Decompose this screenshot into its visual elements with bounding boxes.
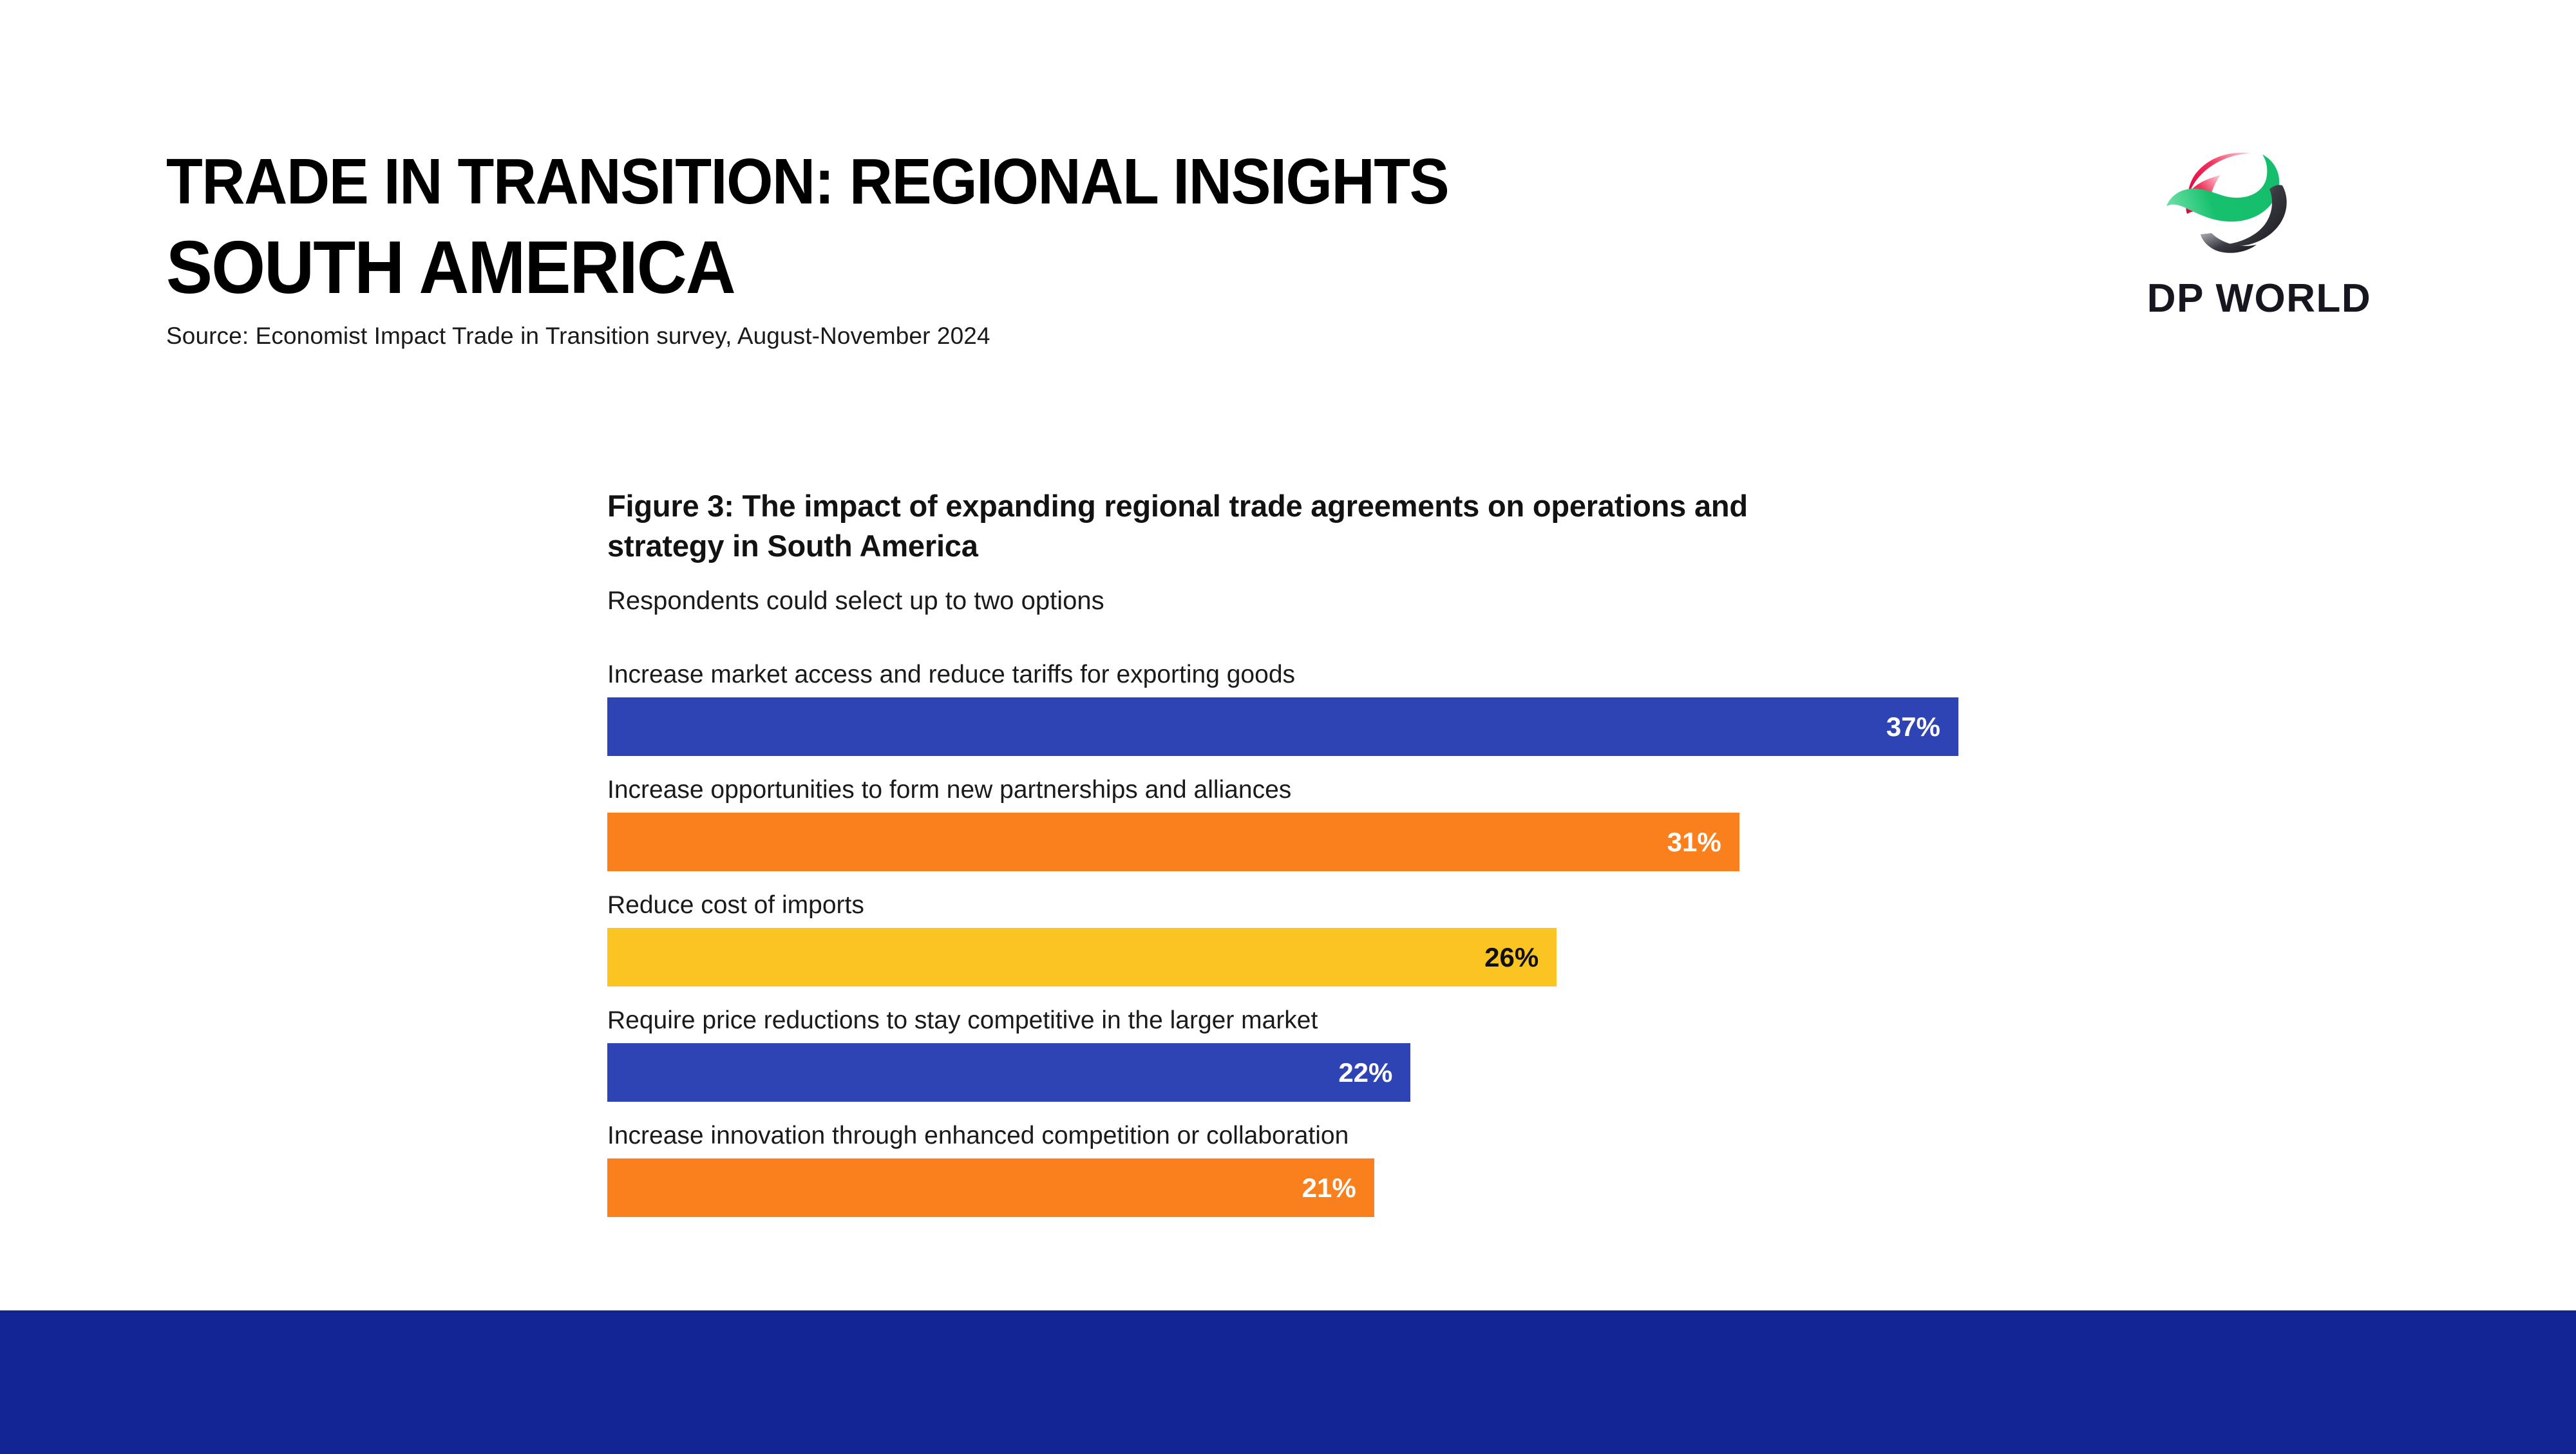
bar-track: 31% <box>607 813 2153 871</box>
chart-row: Increase market access and reduce tariff… <box>607 641 2153 756</box>
figure-block: Figure 3: The impact of expanding region… <box>607 486 2153 1217</box>
chart-row: Increase innovation through enhanced com… <box>607 1102 2153 1217</box>
bar-category-label: Increase market access and reduce tariff… <box>607 641 2153 697</box>
report-title-primary: TRADE IN TRANSITION: REGIONAL INSIGHTS <box>166 147 1903 216</box>
figure-title: Figure 3: The impact of expanding region… <box>607 486 1850 566</box>
bar-fill[interactable]: 21% <box>607 1158 1374 1217</box>
bar-track: 37% <box>607 697 2153 756</box>
bar-value-label: 37% <box>1886 712 1958 742</box>
report-title-region: SOUTH AMERICA <box>166 228 1903 307</box>
dp-world-globe-swoosh-icon <box>2150 147 2317 272</box>
chart-row: Require price reductions to stay competi… <box>607 987 2153 1102</box>
bar-fill[interactable]: 31% <box>607 813 1739 871</box>
figure-subtitle: Respondents could select up to two optio… <box>607 585 2153 616</box>
bar-fill[interactable]: 22% <box>607 1043 1410 1102</box>
bar-category-label: Increase innovation through enhanced com… <box>607 1102 2153 1158</box>
bar-category-label: Require price reductions to stay competi… <box>607 987 2153 1043</box>
horizontal-bar-chart: Increase market access and reduce tariff… <box>607 641 2153 1217</box>
chart-row: Reduce cost of imports26% <box>607 871 2153 987</box>
chart-row: Increase opportunities to form new partn… <box>607 756 2153 871</box>
report-source-line: Source: Economist Impact Trade in Transi… <box>166 322 2034 350</box>
report-header: TRADE IN TRANSITION: REGIONAL INSIGHTS S… <box>166 147 2034 350</box>
bar-category-label: Increase opportunities to form new partn… <box>607 756 2153 813</box>
bar-value-label: 26% <box>1484 942 1557 973</box>
bar-fill[interactable]: 37% <box>607 697 1958 756</box>
bar-fill[interactable]: 26% <box>607 928 1557 987</box>
brand-logo: DP WORLD <box>2098 147 2420 346</box>
bar-value-label: 21% <box>1302 1173 1374 1204</box>
bar-value-label: 22% <box>1338 1057 1410 1088</box>
footer-color-band <box>0 1310 2576 1454</box>
bar-category-label: Reduce cost of imports <box>607 871 2153 928</box>
brand-logo-wordmark: DP WORLD <box>2098 276 2420 321</box>
bar-track: 26% <box>607 928 2153 987</box>
bar-value-label: 31% <box>1667 827 1739 858</box>
bar-track: 22% <box>607 1043 2153 1102</box>
bar-track: 21% <box>607 1158 2153 1217</box>
